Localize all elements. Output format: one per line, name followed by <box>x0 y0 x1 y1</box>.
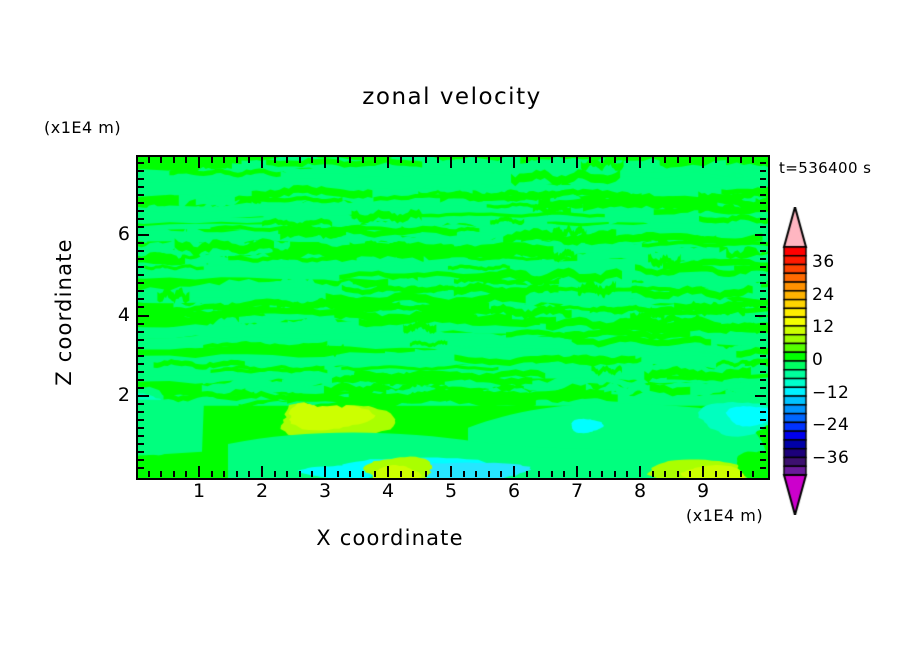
x-tick-top-4.2 <box>400 157 402 163</box>
x-tick-bottom-4.4 <box>412 471 414 477</box>
y-tick-right-0.6 <box>760 451 766 453</box>
y-tick-left-1.2 <box>138 427 144 429</box>
y-tick-right-5.2 <box>760 266 766 268</box>
colorbar-label-1: 24 <box>812 285 835 305</box>
x-tick-top-0.4 <box>160 157 162 163</box>
y-tick-right-4.6 <box>760 290 766 292</box>
y-tick-right-5.4 <box>760 258 766 260</box>
plot-area <box>136 155 770 480</box>
x-tick-bottom-9.6 <box>740 471 742 477</box>
x-tick-top-3.2 <box>337 157 339 163</box>
x-tick-top-4.8 <box>437 157 439 163</box>
y-tick-right-6.6 <box>760 210 766 212</box>
y-tick-left-2.2 <box>138 387 144 389</box>
x-tick-bottom-7.2 <box>589 471 591 477</box>
x-tick-top-2.2 <box>274 157 276 163</box>
x-tick-top-9.2 <box>715 157 717 163</box>
x-tick-bottom-3.8 <box>374 471 376 477</box>
y-tick-left-0.8 <box>138 443 144 445</box>
y-axis-title: Z coordinate <box>52 212 76 412</box>
x-tick-bottom-6.2 <box>526 471 528 477</box>
x-tick-bottom-7.4 <box>601 471 603 477</box>
x-tick-top-5.8 <box>500 157 502 163</box>
x-tick-bottom-5.0 <box>450 466 452 477</box>
y-tick-right-1.2 <box>760 427 766 429</box>
y-tick-left-3.6 <box>138 331 144 333</box>
y-axis-unit-label: (x1E4 m) <box>44 118 121 137</box>
y-tick-left-4.8 <box>138 282 144 284</box>
y-tick-right-7.8 <box>760 162 766 164</box>
x-tick-top-7.0 <box>576 157 578 168</box>
y-tick-right-0.8 <box>760 443 766 445</box>
colorbar-label-6: −36 <box>812 448 849 468</box>
colorbar-label-5: −24 <box>812 415 849 435</box>
x-tick-bottom-3.4 <box>349 471 351 477</box>
x-tick-top-2.6 <box>299 157 301 163</box>
x-tick-top-8.0 <box>639 157 641 168</box>
x-tick-bottom-8.2 <box>652 471 654 477</box>
y-tick-right-3.4 <box>760 339 766 341</box>
colorbar-label-4: −12 <box>812 383 849 403</box>
y-ticklabel-6: 6 <box>100 223 130 245</box>
y-tick-left-5.2 <box>138 266 144 268</box>
y-tick-right-6.0 <box>755 234 766 236</box>
y-ticklabel-4: 4 <box>100 304 130 326</box>
y-tick-right-1.6 <box>760 411 766 413</box>
x-tick-top-3.0 <box>324 157 326 168</box>
x-tick-bottom-0.6 <box>173 471 175 477</box>
y-tick-left-4.6 <box>138 290 144 292</box>
x-tick-bottom-9.8 <box>752 471 754 477</box>
y-tick-right-6.2 <box>760 226 766 228</box>
x-tick-bottom-4.6 <box>425 471 427 477</box>
x-tick-bottom-9.0 <box>702 466 704 477</box>
y-tick-left-3.8 <box>138 323 144 325</box>
x-tick-bottom-2.0 <box>261 466 263 477</box>
y-tick-right-6.8 <box>760 202 766 204</box>
x-tick-bottom-5.6 <box>488 471 490 477</box>
y-tick-left-3.4 <box>138 339 144 341</box>
y-tick-right-4.8 <box>760 282 766 284</box>
y-tick-left-2.8 <box>138 363 144 365</box>
x-tick-top-7.8 <box>626 157 628 163</box>
contour-field-canvas <box>138 157 768 478</box>
y-tick-left-3.0 <box>138 355 144 357</box>
x-tick-bottom-1.0 <box>198 466 200 477</box>
y-tick-right-2.8 <box>760 363 766 365</box>
x-tick-top-6.6 <box>551 157 553 163</box>
y-tick-left-5.0 <box>138 274 144 276</box>
y-tick-right-2.2 <box>760 387 766 389</box>
colorbar-label-3: 0 <box>812 350 823 370</box>
x-ticklabel-6: 6 <box>499 480 529 502</box>
x-tick-top-1.2 <box>211 157 213 163</box>
x-tick-top-0.6 <box>173 157 175 163</box>
y-tick-left-1.8 <box>138 403 144 405</box>
y-ticklabel-2: 2 <box>100 384 130 406</box>
x-tick-top-9.8 <box>752 157 754 163</box>
x-ticklabel-7: 7 <box>562 480 592 502</box>
x-ticklabel-3: 3 <box>310 480 340 502</box>
y-tick-left-6.4 <box>138 218 144 220</box>
x-tick-bottom-8.4 <box>664 471 666 477</box>
y-tick-left-5.6 <box>138 250 144 252</box>
x-tick-bottom-3.0 <box>324 466 326 477</box>
x-axis-unit-label: (x1E4 m) <box>686 506 763 525</box>
y-tick-left-6.8 <box>138 202 144 204</box>
y-tick-right-0.4 <box>760 459 766 461</box>
y-tick-left-0.4 <box>138 459 144 461</box>
y-tick-left-7.8 <box>138 162 144 164</box>
x-tick-bottom-8.6 <box>677 471 679 477</box>
y-tick-right-1.8 <box>760 403 766 405</box>
x-tick-top-8.4 <box>664 157 666 163</box>
x-tick-bottom-0.4 <box>160 471 162 477</box>
x-tick-bottom-0.2 <box>148 471 150 477</box>
y-tick-right-0.2 <box>760 467 766 469</box>
colorbar-canvas <box>782 207 808 515</box>
x-tick-top-2.0 <box>261 157 263 168</box>
y-tick-left-6.0 <box>138 234 149 236</box>
x-tick-bottom-1.4 <box>223 471 225 477</box>
y-tick-left-5.4 <box>138 258 144 260</box>
y-tick-right-7.2 <box>760 186 766 188</box>
x-tick-top-9.0 <box>702 157 704 168</box>
y-tick-left-2.4 <box>138 379 144 381</box>
x-tick-bottom-1.8 <box>248 471 250 477</box>
x-tick-bottom-2.6 <box>299 471 301 477</box>
y-tick-left-5.8 <box>138 242 144 244</box>
y-tick-left-4.2 <box>138 306 144 308</box>
y-tick-right-1.4 <box>760 419 766 421</box>
contour-plot-figure: zonal velocity (x1E4 m) (x1E4 m) X coord… <box>0 0 904 654</box>
y-tick-right-7.4 <box>760 178 766 180</box>
x-tick-bottom-7.6 <box>614 471 616 477</box>
x-tick-top-6.8 <box>563 157 565 163</box>
y-tick-left-7.0 <box>138 194 144 196</box>
x-tick-top-5.0 <box>450 157 452 168</box>
x-tick-bottom-2.4 <box>286 471 288 477</box>
y-tick-right-5.8 <box>760 242 766 244</box>
x-tick-top-4.4 <box>412 157 414 163</box>
x-tick-top-3.6 <box>362 157 364 163</box>
x-tick-top-0.2 <box>148 157 150 163</box>
x-tick-bottom-4.0 <box>387 466 389 477</box>
y-tick-right-3.0 <box>760 355 766 357</box>
y-tick-right-6.4 <box>760 218 766 220</box>
colorbar <box>782 207 808 515</box>
x-tick-bottom-6.6 <box>551 471 553 477</box>
x-tick-bottom-1.2 <box>211 471 213 477</box>
x-tick-top-2.4 <box>286 157 288 163</box>
x-tick-top-1.4 <box>223 157 225 163</box>
x-tick-top-3.4 <box>349 157 351 163</box>
x-tick-bottom-5.8 <box>500 471 502 477</box>
y-tick-left-7.2 <box>138 186 144 188</box>
x-ticklabel-9: 9 <box>688 480 718 502</box>
x-tick-bottom-3.6 <box>362 471 364 477</box>
x-tick-top-7.6 <box>614 157 616 163</box>
x-tick-top-6.2 <box>526 157 528 163</box>
x-tick-top-7.4 <box>601 157 603 163</box>
y-tick-right-4.0 <box>755 315 766 317</box>
time-stamp-label: t=536400 s <box>779 159 871 177</box>
x-tick-top-1.0 <box>198 157 200 168</box>
x-ticklabel-8: 8 <box>625 480 655 502</box>
y-tick-right-2.4 <box>760 379 766 381</box>
y-tick-left-4.0 <box>138 315 149 317</box>
x-tick-bottom-9.4 <box>727 471 729 477</box>
colorbar-label-0: 36 <box>812 252 835 272</box>
x-tick-top-9.4 <box>727 157 729 163</box>
y-tick-right-3.8 <box>760 323 766 325</box>
y-tick-left-4.4 <box>138 298 144 300</box>
x-tick-bottom-8.8 <box>689 471 691 477</box>
y-tick-right-4.4 <box>760 298 766 300</box>
y-tick-left-6.2 <box>138 226 144 228</box>
x-tick-top-8.8 <box>689 157 691 163</box>
y-tick-left-7.4 <box>138 178 144 180</box>
x-tick-top-5.2 <box>463 157 465 163</box>
x-tick-bottom-2.8 <box>311 471 313 477</box>
x-tick-top-8.2 <box>652 157 654 163</box>
x-tick-top-6.4 <box>538 157 540 163</box>
x-tick-bottom-3.2 <box>337 471 339 477</box>
x-tick-bottom-8.0 <box>639 466 641 477</box>
x-tick-top-3.8 <box>374 157 376 163</box>
x-tick-bottom-7.0 <box>576 466 578 477</box>
x-tick-top-2.8 <box>311 157 313 163</box>
x-ticklabel-2: 2 <box>247 480 277 502</box>
y-tick-right-7.0 <box>760 194 766 196</box>
y-tick-left-1.6 <box>138 411 144 413</box>
y-tick-left-7.6 <box>138 170 144 172</box>
x-tick-bottom-1.6 <box>236 471 238 477</box>
y-tick-right-7.6 <box>760 170 766 172</box>
x-tick-bottom-4.2 <box>400 471 402 477</box>
x-tick-top-1.6 <box>236 157 238 163</box>
x-tick-top-5.4 <box>475 157 477 163</box>
y-tick-left-2.0 <box>138 395 149 397</box>
page-title: zonal velocity <box>0 84 904 110</box>
x-tick-top-5.6 <box>488 157 490 163</box>
x-tick-top-4.0 <box>387 157 389 168</box>
colorbar-label-2: 12 <box>812 317 835 337</box>
y-tick-left-0.6 <box>138 451 144 453</box>
y-tick-right-3.2 <box>760 347 766 349</box>
x-tick-top-9.6 <box>740 157 742 163</box>
x-tick-bottom-2.2 <box>274 471 276 477</box>
x-axis-title: X coordinate <box>0 526 780 550</box>
x-ticklabel-4: 4 <box>373 480 403 502</box>
y-tick-left-2.6 <box>138 371 144 373</box>
x-tick-bottom-7.8 <box>626 471 628 477</box>
y-tick-left-6.6 <box>138 210 144 212</box>
y-tick-right-5.6 <box>760 250 766 252</box>
x-tick-top-8.6 <box>677 157 679 163</box>
x-tick-bottom-0.8 <box>185 471 187 477</box>
x-ticklabel-1: 1 <box>184 480 214 502</box>
x-tick-bottom-5.2 <box>463 471 465 477</box>
x-tick-bottom-6.8 <box>563 471 565 477</box>
x-ticklabel-5: 5 <box>436 480 466 502</box>
y-tick-left-3.2 <box>138 347 144 349</box>
x-tick-bottom-6.4 <box>538 471 540 477</box>
y-tick-left-1.0 <box>138 435 144 437</box>
x-tick-top-6.0 <box>513 157 515 168</box>
x-tick-bottom-9.2 <box>715 471 717 477</box>
x-tick-top-1.8 <box>248 157 250 163</box>
y-tick-right-1.0 <box>760 435 766 437</box>
y-tick-right-2.6 <box>760 371 766 373</box>
x-tick-top-0.8 <box>185 157 187 163</box>
x-tick-top-7.2 <box>589 157 591 163</box>
x-tick-top-4.6 <box>425 157 427 163</box>
x-tick-bottom-4.8 <box>437 471 439 477</box>
y-tick-right-2.0 <box>755 395 766 397</box>
y-tick-right-3.6 <box>760 331 766 333</box>
x-tick-bottom-6.0 <box>513 466 515 477</box>
y-tick-right-5.0 <box>760 274 766 276</box>
y-tick-left-0.2 <box>138 467 144 469</box>
x-tick-bottom-5.4 <box>475 471 477 477</box>
y-tick-right-4.2 <box>760 306 766 308</box>
y-tick-left-1.4 <box>138 419 144 421</box>
